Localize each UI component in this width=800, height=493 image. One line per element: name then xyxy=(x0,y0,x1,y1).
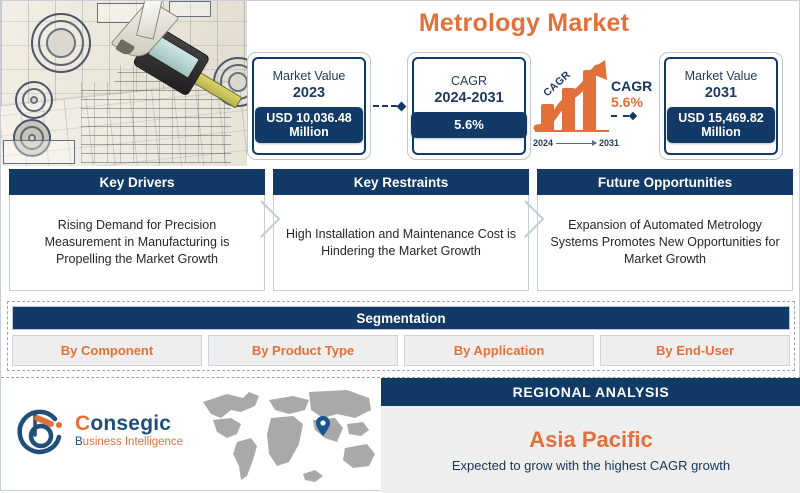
brand-name-initial: C xyxy=(75,412,90,435)
brand-tagline-rest: usiness Intelligence xyxy=(83,436,183,448)
metric-period: 2031 xyxy=(685,84,758,102)
brand-text: Consegic Business Intelligence xyxy=(75,413,183,449)
metric-row: Market Value 2023 USD 10,036.48 Million … xyxy=(247,45,800,167)
diamond-endpoint-icon xyxy=(629,112,637,120)
panel-text: High Installation and Maintenance Cost i… xyxy=(286,226,516,260)
metric-card-cagr: CAGR 2024-2031 5.6% xyxy=(407,52,531,160)
metric-value: USD 15,469.82 Million xyxy=(667,107,775,143)
consegic-logo-icon xyxy=(15,405,67,457)
segmentation-section: Segmentation By Component By Product Typ… xyxy=(7,301,795,371)
segment-by-product-type[interactable]: By Product Type xyxy=(208,335,398,366)
blueprint-caliper-photo xyxy=(1,1,247,166)
panel-body: High Installation and Maintenance Cost i… xyxy=(273,195,529,291)
chart-side-annotation: CAGR 5.6% xyxy=(611,78,659,119)
chart-cagr-value: 5.6% xyxy=(611,94,659,111)
metric-period: 2023 xyxy=(273,84,346,102)
header-band: Metrology Market Market Value 2023 USD 1… xyxy=(1,1,800,167)
metric-label: Market Value 2023 xyxy=(273,69,346,102)
metric-value: USD 10,036.48 Million xyxy=(255,107,363,143)
panel-heading: Key Drivers xyxy=(9,169,265,195)
metric-label: Market Value 2031 xyxy=(685,69,758,102)
panel-key-drivers: Key Drivers Rising Demand for Precision … xyxy=(9,169,265,291)
metric-card-market-value-2031: Market Value 2031 USD 15,469.82 Million xyxy=(659,52,783,160)
segment-by-application[interactable]: By Application xyxy=(404,335,594,366)
segment-by-end-user[interactable]: By End-User xyxy=(600,335,790,366)
metric-period: 2024-2031 xyxy=(434,89,503,107)
brand-tagline: Business Intelligence xyxy=(75,437,183,449)
regional-analysis-heading: REGIONAL ANALYSIS xyxy=(381,378,800,406)
chart-baseline xyxy=(535,130,609,132)
segment-by-component[interactable]: By Component xyxy=(12,335,202,366)
insights-row: Key Drivers Rising Demand for Precision … xyxy=(1,169,800,293)
panel-text: Expansion of Automated Metrology Systems… xyxy=(550,217,780,268)
diamond-endpoint-icon xyxy=(397,101,407,111)
regional-analysis-body: Asia Pacific Expected to grow with the h… xyxy=(381,406,800,493)
chevron-right-icon xyxy=(257,197,283,241)
chart-bar xyxy=(541,104,554,130)
connector-dashed-2 xyxy=(611,113,659,119)
chart-bar xyxy=(583,70,596,130)
infographic-page: Metrology Market Market Value 2023 USD 1… xyxy=(0,0,800,491)
brand-tagline-initial: B xyxy=(75,436,83,448)
metric-value: 5.6% xyxy=(411,112,527,138)
footer-band: Consegic Business Intelligence xyxy=(1,377,800,492)
page-title-wrap: Metrology Market xyxy=(247,1,800,45)
chevron-right-icon xyxy=(521,197,547,241)
brand-name-rest: onsegic xyxy=(90,412,171,435)
gear-drawing-icon xyxy=(31,13,91,73)
region-subtitle: Expected to grow with the highest CAGR g… xyxy=(452,458,730,473)
chart-end-year: 2031 xyxy=(599,138,619,148)
metric-label-text: Market Value xyxy=(273,69,346,83)
panel-heading: Key Restraints xyxy=(273,169,529,195)
panel-key-restraints: Key Restraints High Installation and Mai… xyxy=(273,169,529,291)
chart-start-year: 2024 xyxy=(533,138,553,148)
world-map xyxy=(197,384,383,488)
cagr-growth-chart: CAGR 2024 2031 CAGR 5.6% xyxy=(531,52,659,160)
gear-drawing-icon xyxy=(15,81,53,119)
metric-label: CAGR 2024-2031 xyxy=(434,74,503,107)
chart-plot-area: CAGR 2024 2031 xyxy=(533,60,611,146)
metric-card-market-value-2023: Market Value 2023 USD 10,036.48 Million xyxy=(247,52,371,160)
panel-future-opportunities: Future Opportunities Expansion of Automa… xyxy=(537,169,793,291)
chart-bar xyxy=(562,88,575,130)
page-title: Metrology Market xyxy=(419,9,629,38)
panel-heading: Future Opportunities xyxy=(537,169,793,195)
dashed-line xyxy=(611,115,629,117)
panel-text: Rising Demand for Precision Measurement … xyxy=(22,217,252,268)
regional-analysis-panel: REGIONAL ANALYSIS Asia Pacific Expected … xyxy=(381,378,800,493)
axis-arrow-icon xyxy=(556,143,596,144)
panel-body: Expansion of Automated Metrology Systems… xyxy=(537,195,793,291)
chart-year-axis: 2024 2031 xyxy=(533,138,619,148)
panel-body: Rising Demand for Precision Measurement … xyxy=(9,195,265,291)
chart-cagr-label: CAGR xyxy=(611,78,659,94)
brand-name: Consegic xyxy=(75,413,183,434)
metric-label-text: Market Value xyxy=(685,69,758,83)
segmentation-heading: Segmentation xyxy=(12,306,790,330)
connector-dashed-1 xyxy=(371,103,407,110)
region-name: Asia Pacific xyxy=(529,427,653,453)
title-block xyxy=(3,140,75,164)
segmentation-row: By Component By Product Type By Applicat… xyxy=(12,335,790,366)
dashed-line xyxy=(373,105,397,107)
consegic-logo[interactable]: Consegic Business Intelligence xyxy=(15,400,195,462)
metric-label-text: CAGR xyxy=(451,74,487,88)
